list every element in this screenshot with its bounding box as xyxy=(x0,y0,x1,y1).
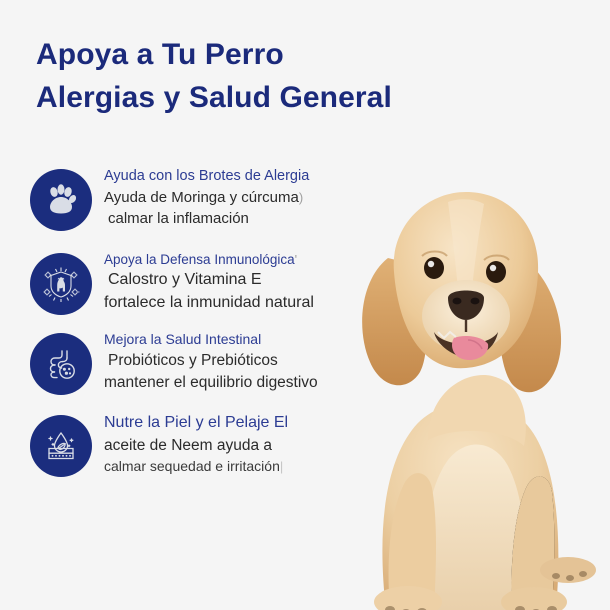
feature-title: Apoya la Defensa Inmunológica' xyxy=(104,250,402,269)
feature-item-allergy: Ayuda con los Brotes de Alergia Ayuda de… xyxy=(30,165,402,237)
feature-desc-line-1: Probióticos y Prebióticos xyxy=(104,350,402,372)
feature-text-gut-health: Mejora la Salud Intestinal Probióticos y… xyxy=(92,329,402,394)
feature-desc-line-1: Calostro y Vitamina E xyxy=(104,269,402,292)
promo-poster: Apoya a Tu Perro Alergias y Salud Genera… xyxy=(0,0,610,610)
feature-list: Ayuda con los Brotes de Alergia Ayuda de… xyxy=(30,165,402,495)
headline-line-2: Alergias y Salud General xyxy=(36,77,392,120)
paw-print-icon xyxy=(30,169,92,231)
skin-droplet-icon xyxy=(30,415,92,477)
shield-dog-immunity-icon xyxy=(30,253,92,315)
feature-item-immunity: Apoya la Defensa Inmunológica' Calostro … xyxy=(30,249,402,321)
feature-desc-line-1: aceite de Neem ayuda a xyxy=(104,435,402,457)
feature-title: Ayuda con los Brotes de Alergia xyxy=(104,166,402,187)
feature-desc-text: Ayuda de Moringa y cúrcuma xyxy=(104,189,299,206)
scan-artifact-glyph: | xyxy=(280,459,283,474)
feature-text-immunity: Apoya la Defensa Inmunológica' Calostro … xyxy=(92,249,402,315)
feature-title: Nutre la Piel y el Pelaje El xyxy=(104,412,402,435)
intestine-gut-icon xyxy=(30,333,92,395)
feature-text-skin-coat: Nutre la Piel y el Pelaje El aceite de N… xyxy=(92,411,402,477)
scan-artifact-glyph: ' xyxy=(295,252,297,267)
feature-text-allergy: Ayuda con los Brotes de Alergia Ayuda de… xyxy=(92,165,402,229)
feature-desc-line-2: mantener el equilibrio digestivo xyxy=(104,372,402,394)
headline-line-1: Apoya a Tu Perro xyxy=(36,34,392,77)
feature-item-skin-coat: Nutre la Piel y el Pelaje El aceite de N… xyxy=(30,411,402,483)
feature-desc-text: calmar sequedad e irritación xyxy=(104,458,280,474)
feature-title: Mejora la Salud Intestinal xyxy=(104,330,402,350)
feature-item-gut-health: Mejora la Salud Intestinal Probióticos y… xyxy=(30,329,402,401)
feature-desc-line-2: calmar sequedad e irritación| xyxy=(104,457,402,477)
feature-title-text: Apoya la Defensa Inmunológica xyxy=(104,252,295,267)
scan-artifact-glyph: ) xyxy=(299,190,303,205)
feature-desc-line-1: Ayuda de Moringa y cúrcuma) xyxy=(104,187,402,208)
page-title: Apoya a Tu Perro Alergias y Salud Genera… xyxy=(36,34,392,119)
feature-desc-line-2: calmar la inflamación xyxy=(104,208,402,229)
feature-desc-line-2: fortalece la inmunidad natural xyxy=(104,292,402,315)
